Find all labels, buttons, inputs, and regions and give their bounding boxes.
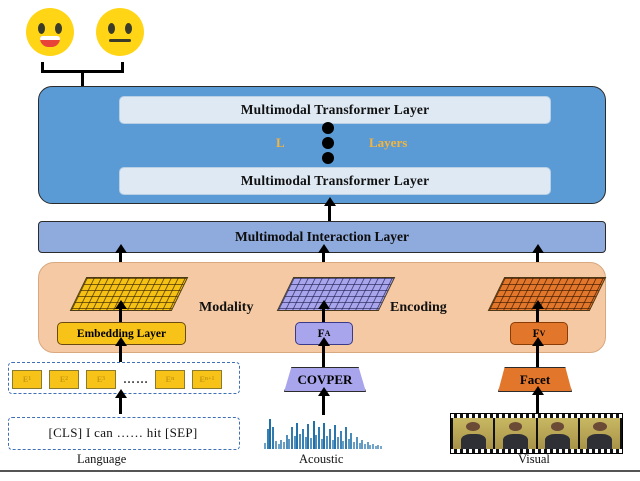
visual-caption: Visual xyxy=(518,452,550,467)
covper-label: COVPER xyxy=(298,372,353,388)
eye-left xyxy=(38,23,45,34)
film-frame xyxy=(538,418,578,449)
architecture-diagram: Multimodal Transformer Layer Multimodal … xyxy=(0,0,640,481)
eye-left xyxy=(108,23,115,34)
smiling-face-icon xyxy=(26,8,74,56)
audio-waveform-icon xyxy=(264,417,384,449)
encoding-word-label: Encoding xyxy=(390,300,447,316)
neutral-face-icon xyxy=(96,8,144,56)
arrow-fa-to-grid xyxy=(322,308,325,322)
bracket-right-tick xyxy=(121,62,124,72)
bottom-rule xyxy=(0,470,640,472)
multimodal-transformer-layer-bottom: Multimodal Transformer Layer xyxy=(119,167,551,195)
acoustic-caption: Acoustic xyxy=(299,452,343,467)
token-ellipsis: …… xyxy=(123,372,149,387)
vertical-ellipsis-dots xyxy=(322,122,336,167)
film-frame xyxy=(453,418,493,449)
mouth-smile xyxy=(40,36,60,47)
film-frame xyxy=(495,418,535,449)
arrow-sentence-to-tokens xyxy=(119,397,122,414)
language-caption: Language xyxy=(77,452,126,467)
modality-word-label: Modality xyxy=(199,300,253,316)
visual-feature-grid xyxy=(488,277,607,311)
arrow-facet-to-fv xyxy=(536,345,539,367)
bracket-stem xyxy=(81,70,84,87)
eye-right xyxy=(55,23,62,34)
token-e3: E3 xyxy=(86,370,116,389)
arrow-embedding-to-grid xyxy=(119,308,122,322)
language-feature-grid xyxy=(70,277,189,311)
acoustic-feature-grid xyxy=(277,277,396,311)
token-en: En xyxy=(155,370,185,389)
layers-word-label: Layers xyxy=(369,135,407,151)
layers-count-label: L xyxy=(276,135,285,151)
token-e2: E2 xyxy=(49,370,79,389)
arrow-waveform-to-covper xyxy=(322,395,325,415)
arrow-fv-to-grid xyxy=(536,308,539,322)
arrow-filmstrip-to-facet xyxy=(536,394,539,414)
video-filmstrip-icon xyxy=(450,413,623,454)
language-sentence-text: [CLS] I can …… hit [SEP] xyxy=(12,419,234,446)
arrow-interaction-to-transformer xyxy=(328,205,331,221)
film-frame xyxy=(580,418,620,449)
mouth-flat xyxy=(109,39,131,42)
token-en-plus-1: En+1 xyxy=(192,370,222,389)
arrow-covper-to-fa xyxy=(322,345,325,367)
multimodal-transformer-layer-top: Multimodal Transformer Layer xyxy=(119,96,551,124)
token-e1: E1 xyxy=(12,370,42,389)
eye-right xyxy=(125,23,132,34)
